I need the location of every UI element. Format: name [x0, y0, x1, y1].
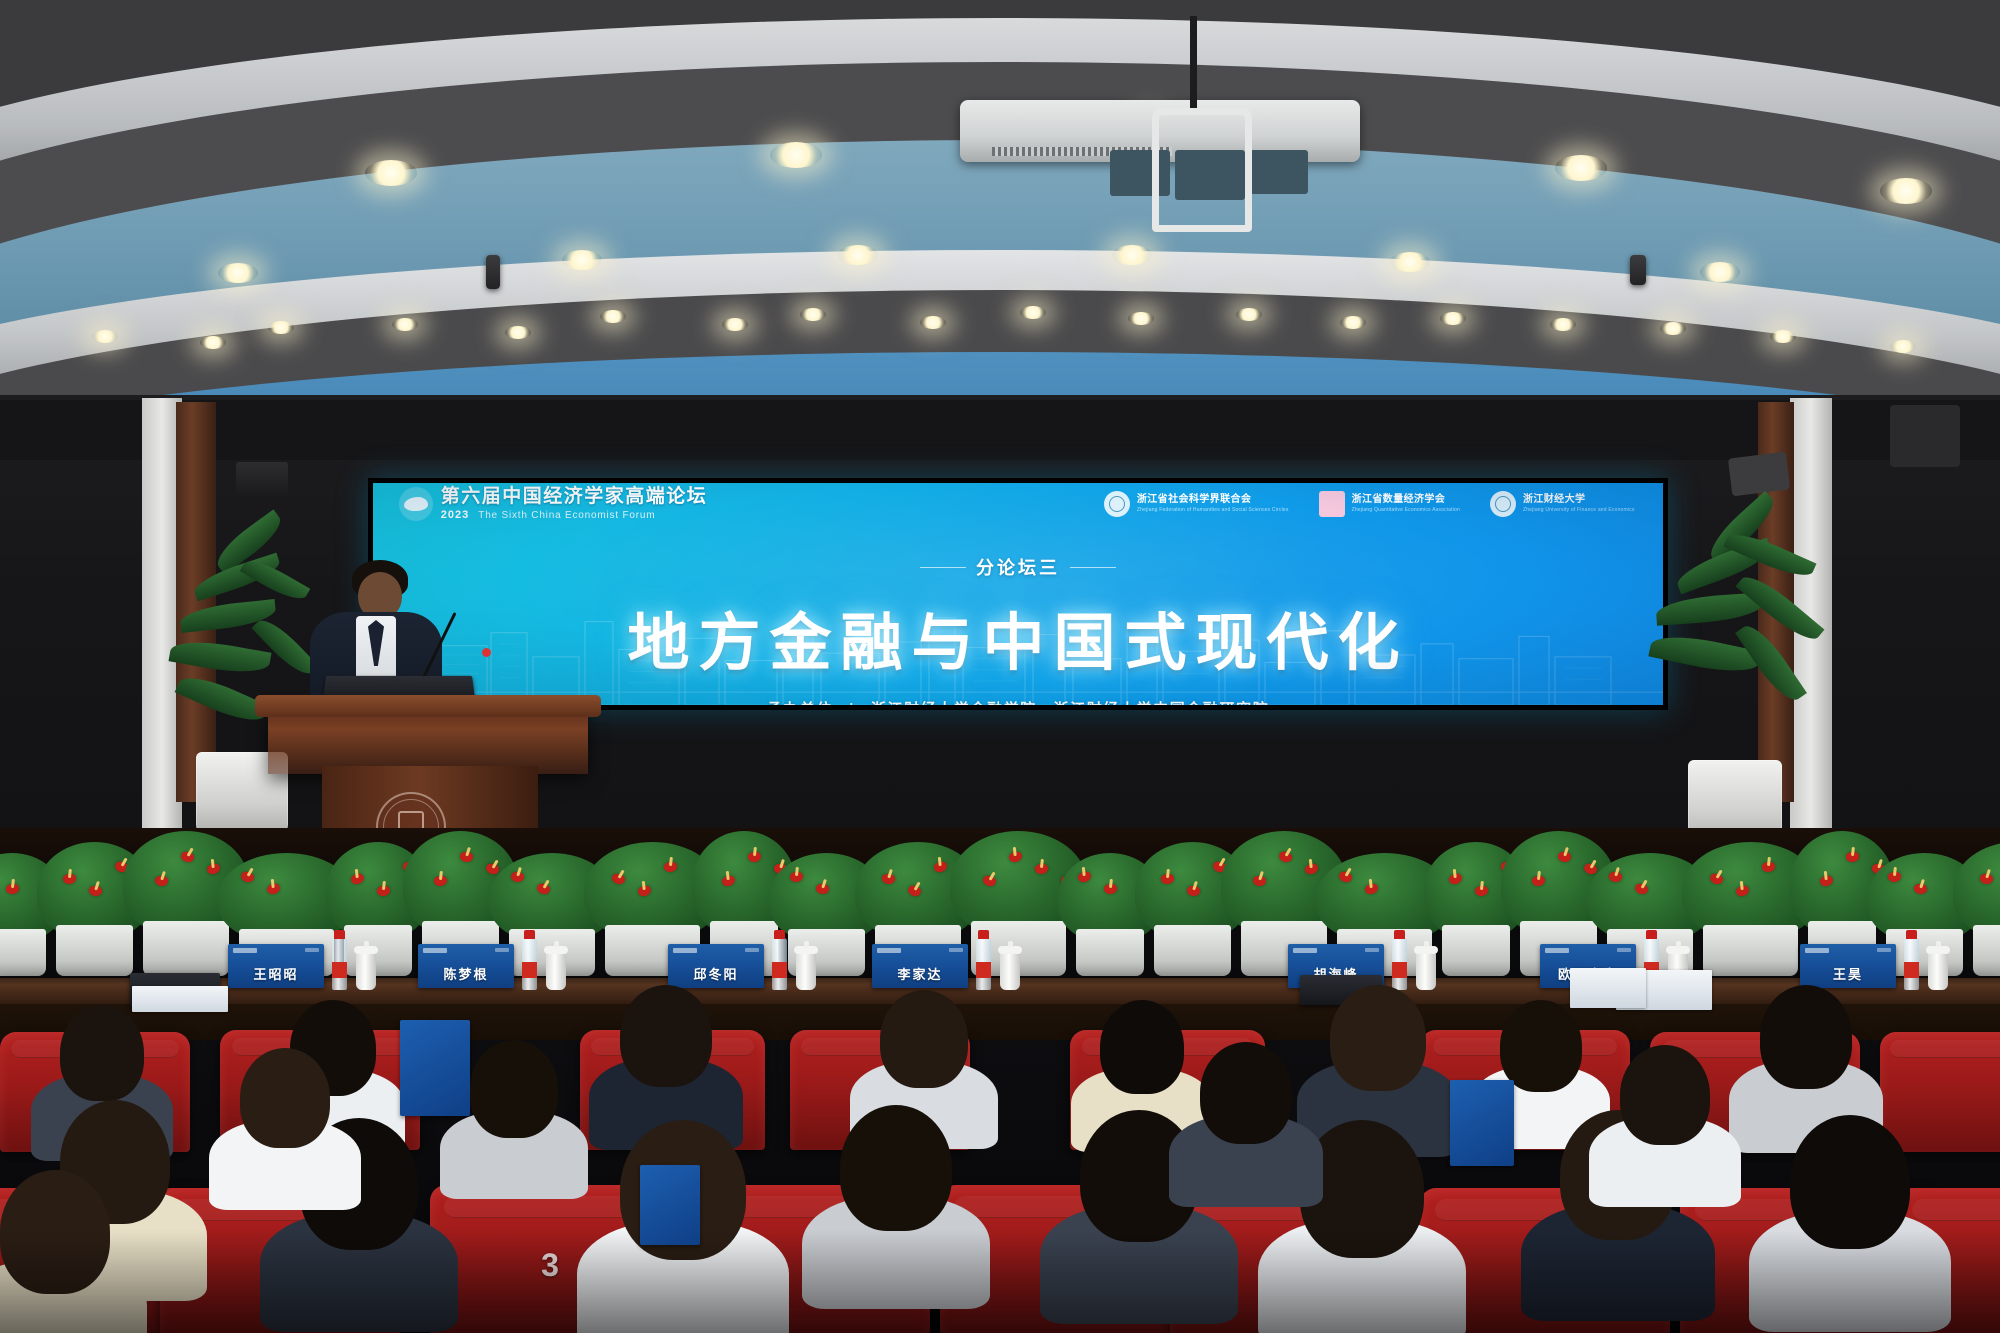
downlight-icon	[1660, 322, 1686, 335]
palm-leaf	[169, 636, 272, 679]
water-bottle	[1904, 938, 1919, 990]
ceiling-speaker-left	[486, 255, 500, 289]
nameplate-logo-icon	[423, 948, 447, 953]
nameplate-mark-icon	[1365, 948, 1379, 952]
forum-title-en-line: 2023The Sixth China Economist Forum	[441, 510, 708, 521]
nameplate: 邱冬阳	[668, 944, 764, 988]
downlight-icon	[1390, 252, 1430, 272]
audience-head	[1620, 1045, 1710, 1145]
nameplate-logo-icon	[1293, 948, 1317, 953]
sponsor-3-name-cn: 浙江财经大学	[1523, 495, 1635, 506]
white-plant-pot	[56, 925, 133, 976]
nameplate-logo-icon	[673, 948, 697, 953]
wall-upper-shadow	[0, 400, 2000, 460]
cup-lid	[794, 946, 818, 954]
cup-lid	[1926, 946, 1950, 954]
screen-header: 第六届中国经济学家高端论坛 2023The Sixth China Econom…	[373, 483, 1663, 525]
audience-member	[880, 990, 968, 1088]
sponsor-1-name-cn: 浙江省社会科学界联合会	[1137, 495, 1289, 506]
downlight-icon	[1770, 330, 1796, 343]
downlight-icon	[365, 160, 417, 186]
bottle-label	[332, 962, 347, 978]
square-mark-icon	[1319, 491, 1345, 517]
nameplate-logo-icon	[1805, 948, 1829, 953]
organizer-line: 承办单位|浙江财经大学金融学院、浙江财经大学中国金融研究院	[767, 698, 1270, 705]
white-plant-pot	[1703, 925, 1798, 976]
sponsor-1: 浙江省社会科学界联合会 Zhejiang Federation of Human…	[1104, 491, 1289, 517]
bottle-cap	[774, 930, 785, 939]
sponsor-2-name-cn: 浙江省数量经济学会	[1352, 495, 1460, 506]
screen-body: 分论坛三 地方金融与中国式现代化 承办单位|浙江财经大学金融学院、浙江财经大学中…	[373, 525, 1663, 705]
bottle-label	[772, 962, 787, 978]
document-folder	[1450, 1080, 1514, 1166]
nameplate: 王昭昭	[228, 944, 324, 988]
audience-head	[60, 1005, 144, 1101]
nameplate-mark-icon	[949, 948, 963, 952]
water-bottle	[772, 938, 787, 990]
audience-head	[1100, 1000, 1184, 1094]
audience-member	[1790, 1115, 1910, 1249]
podium-desk	[268, 706, 588, 774]
white-plant-pot	[1442, 925, 1510, 976]
palm-leaf	[251, 613, 318, 682]
audience-head	[620, 985, 712, 1087]
downlight-icon	[1700, 262, 1740, 282]
sponsor-1-text: 浙江省社会科学界联合会 Zhejiang Federation of Human…	[1137, 495, 1289, 513]
audience-head	[0, 1170, 110, 1294]
organizer-divider: |	[849, 701, 855, 705]
screen-main-title: 地方金融与中国式现代化	[627, 592, 1408, 682]
audience-head	[1760, 985, 1852, 1089]
downlight-icon	[268, 321, 294, 334]
audience-member	[0, 1170, 110, 1294]
white-plant-pot	[1973, 925, 2000, 976]
water-bottle	[332, 938, 347, 990]
audience-head	[240, 1048, 330, 1148]
seal-icon	[1104, 491, 1130, 517]
organizer-label: 承办单位	[767, 701, 833, 705]
nameplate: 陈梦根	[418, 944, 514, 988]
forum-title-en: The Sixth China Economist Forum	[478, 510, 655, 521]
potted-palm-right	[1640, 530, 1840, 850]
white-plant-pot	[143, 921, 229, 976]
downlight-icon	[1340, 316, 1366, 329]
white-plant-pot	[1076, 929, 1144, 976]
bottle-cap	[1646, 930, 1657, 939]
organizer-value: 浙江财经大学金融学院、浙江财经大学中国金融研究院	[871, 701, 1269, 705]
downlight-icon	[838, 245, 878, 265]
forum-year: 2023	[441, 510, 469, 521]
tea-cup	[796, 952, 816, 990]
bottle-label	[1392, 962, 1407, 978]
downlight-icon	[1128, 312, 1154, 325]
nameplate-mark-icon	[305, 948, 319, 952]
nameplate-mark-icon	[745, 948, 759, 952]
audience-member	[840, 1105, 952, 1231]
sponsor-3-name-en: Zhejiang University of Finance and Econo…	[1523, 508, 1635, 513]
flower-pot	[1695, 854, 1806, 976]
downlight-icon	[218, 263, 258, 283]
wall-speaker-right	[1728, 452, 1790, 497]
tea-cup	[1000, 952, 1020, 990]
bottle-label	[522, 962, 537, 978]
white-plant-pot	[1886, 929, 1963, 976]
ceiling	[0, 0, 2000, 420]
bottle-label	[976, 962, 991, 978]
bottle-label	[1904, 962, 1919, 978]
downlight-icon	[200, 336, 226, 349]
nameplate-name: 陈梦根	[443, 964, 488, 988]
audience-head	[1790, 1115, 1910, 1249]
podium-top-edge	[255, 695, 601, 717]
printed-document	[1570, 968, 1646, 1008]
audience-member	[1760, 985, 1852, 1089]
audience-head	[1200, 1042, 1292, 1144]
cup-knob	[804, 941, 809, 947]
water-bottle	[976, 938, 991, 990]
downlight-icon	[1890, 340, 1916, 353]
downlight-icon	[800, 308, 826, 321]
projector-body-right	[1250, 150, 1308, 194]
document-folder	[400, 1020, 470, 1116]
sponsor-3-text: 浙江财经大学 Zhejiang University of Finance an…	[1523, 495, 1635, 513]
tea-cup	[356, 952, 376, 990]
nameplate-name: 李家达	[897, 964, 942, 988]
audience-member	[240, 1048, 330, 1148]
audience-member	[1200, 1042, 1292, 1144]
document-folder	[640, 1165, 700, 1245]
printed-document	[132, 986, 228, 1012]
nameplate-mark-icon	[1877, 948, 1891, 952]
cup-lid	[1414, 946, 1438, 954]
cup-knob	[364, 941, 369, 947]
forum-logo-text: 第六届中国经济学家高端论坛 2023The Sixth China Econom…	[441, 487, 708, 521]
sponsor-1-name-en: Zhejiang Federation of Humanities and So…	[1137, 508, 1289, 513]
nameplate-mark-icon	[1617, 948, 1631, 952]
flower-pot	[1965, 854, 2000, 976]
audience-head	[840, 1105, 952, 1231]
nameplate-mark-icon	[495, 948, 509, 952]
cup-knob	[1936, 941, 1941, 947]
downlight-icon	[92, 330, 118, 343]
ceiling-projector	[1152, 108, 1252, 232]
nameplate-logo-icon	[1545, 948, 1569, 953]
downlight-icon	[920, 316, 946, 329]
seal-icon	[1490, 491, 1516, 517]
white-plant-pot	[1154, 925, 1231, 976]
bottle-cap	[334, 930, 345, 939]
audience-head	[1500, 1000, 1582, 1092]
ceiling-speaker-right	[1630, 255, 1646, 285]
audience-member	[1500, 1000, 1582, 1092]
cup-lid	[354, 946, 378, 954]
downlight-icon	[1555, 155, 1607, 181]
seat-seam	[1912, 1199, 2000, 1221]
cup-lid	[544, 946, 568, 954]
downlight-icon	[505, 326, 531, 339]
cup-knob	[1676, 941, 1681, 947]
downlight-icon	[1550, 318, 1576, 331]
cup-lid	[998, 946, 1022, 954]
water-bottle	[522, 938, 537, 990]
tea-cup	[546, 952, 566, 990]
nameplate-name: 王昭昭	[253, 964, 298, 988]
downlight-icon	[1020, 306, 1046, 319]
bottle-cap	[524, 930, 535, 939]
audience-member	[1620, 1045, 1710, 1145]
tea-cup	[1928, 952, 1948, 990]
downlight-icon	[1112, 245, 1152, 265]
audience-head	[880, 990, 968, 1088]
wall-speaker-far-right	[1890, 405, 1960, 467]
audience-head	[470, 1040, 558, 1138]
bottle-cap	[978, 930, 989, 939]
audience-member	[60, 1005, 144, 1101]
sponsor-logo-row: 浙江省社会科学界联合会 Zhejiang Federation of Human…	[1104, 491, 1635, 517]
nameplate: 王昊	[1800, 944, 1896, 988]
nameplate-logo-icon	[233, 948, 257, 953]
china-map-icon	[399, 487, 433, 521]
microphone-head-icon	[482, 648, 491, 657]
forum-title-cn: 第六届中国经济学家高端论坛	[441, 487, 708, 506]
audience-member	[1100, 1000, 1184, 1094]
sponsor-3: 浙江财经大学 Zhejiang University of Finance an…	[1490, 491, 1635, 517]
downlight-icon	[722, 318, 748, 331]
bottle-cap	[1394, 930, 1405, 939]
audience-head	[1330, 985, 1426, 1091]
seat-seam	[1890, 1040, 2000, 1058]
forum-logo: 第六届中国经济学家高端论坛 2023The Sixth China Econom…	[399, 487, 708, 521]
sub-forum-label: 分论坛三	[920, 554, 1116, 580]
downlight-icon	[1440, 312, 1466, 325]
sponsor-2-text: 浙江省数量经济学会 Zhejiang Quantitative Economic…	[1352, 495, 1460, 513]
wall-speaker-left	[236, 462, 288, 496]
bottle-cap	[1906, 930, 1917, 939]
cup-knob	[554, 941, 559, 947]
downlight-icon	[600, 310, 626, 323]
sponsor-2: 浙江省数量经济学会 Zhejiang Quantitative Economic…	[1319, 491, 1460, 517]
downlight-icon	[392, 318, 418, 331]
audience-member	[620, 985, 712, 1087]
led-stage-screen: 第六届中国经济学家高端论坛 2023The Sixth China Econom…	[368, 478, 1668, 710]
nameplate-logo-icon	[877, 948, 901, 953]
sponsor-2-name-en: Zhejiang Quantitative Economics Associat…	[1352, 508, 1460, 513]
downlight-icon	[1236, 308, 1262, 321]
downlight-icon	[562, 250, 602, 270]
audience-member	[470, 1040, 558, 1138]
downlight-icon	[1880, 178, 1932, 204]
white-plant-pot	[0, 929, 46, 976]
cup-lid	[1666, 946, 1690, 954]
water-bottle	[1392, 938, 1407, 990]
cup-knob	[1424, 941, 1429, 947]
downlight-icon	[770, 142, 822, 168]
screen-surface: 第六届中国经济学家高端论坛 2023The Sixth China Econom…	[373, 483, 1663, 705]
audience-member	[1330, 985, 1426, 1091]
conference-hall-photo: 第六届中国经济学家高端论坛 2023The Sixth China Econom…	[0, 0, 2000, 1333]
cup-knob	[1008, 941, 1013, 947]
nameplate: 李家达	[872, 944, 968, 988]
projector-mount-rod	[1190, 16, 1197, 112]
potted-palm-left	[170, 540, 330, 840]
